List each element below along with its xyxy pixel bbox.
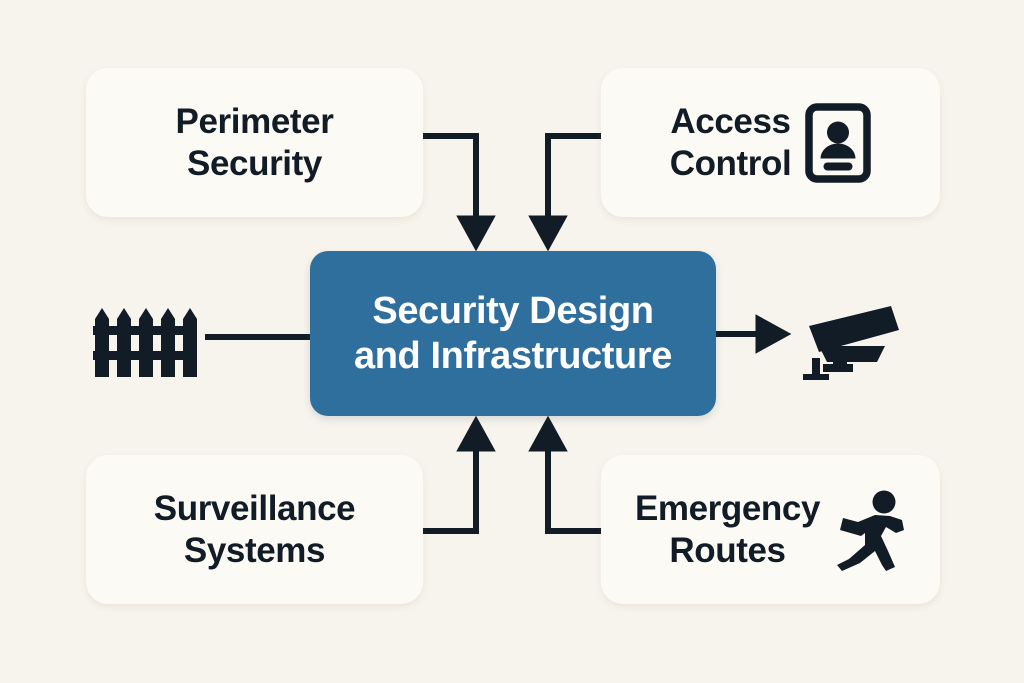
node-label-access-control: Access Control	[670, 101, 792, 184]
connector-access-to-center	[548, 136, 601, 243]
running-person-icon	[834, 489, 906, 571]
connector-perimeter-to-center	[423, 136, 476, 243]
diagram-canvas: Perimeter Security Access Control Survei…	[0, 0, 1024, 683]
node-label-emergency-routes: Emergency Routes	[635, 488, 820, 571]
center-node-label: Security Design and Infrastructure	[354, 289, 672, 379]
center-node-security-design[interactable]: Security Design and Infrastructure	[310, 251, 716, 416]
node-card-emergency-routes[interactable]: Emergency Routes	[601, 455, 940, 604]
connector-surveillance-to-center	[423, 424, 476, 531]
node-label-surveillance-systems: Surveillance Systems	[154, 488, 355, 571]
fence-icon	[93, 301, 197, 377]
node-card-access-control[interactable]: Access Control	[601, 68, 940, 217]
cctv-camera-icon	[797, 304, 901, 380]
node-label-perimeter-security: Perimeter Security	[176, 101, 334, 184]
connector-emergency-to-center	[548, 424, 601, 531]
node-card-perimeter-security[interactable]: Perimeter Security	[86, 68, 423, 217]
id-badge-icon	[805, 103, 871, 183]
node-card-surveillance-systems[interactable]: Surveillance Systems	[86, 455, 423, 604]
